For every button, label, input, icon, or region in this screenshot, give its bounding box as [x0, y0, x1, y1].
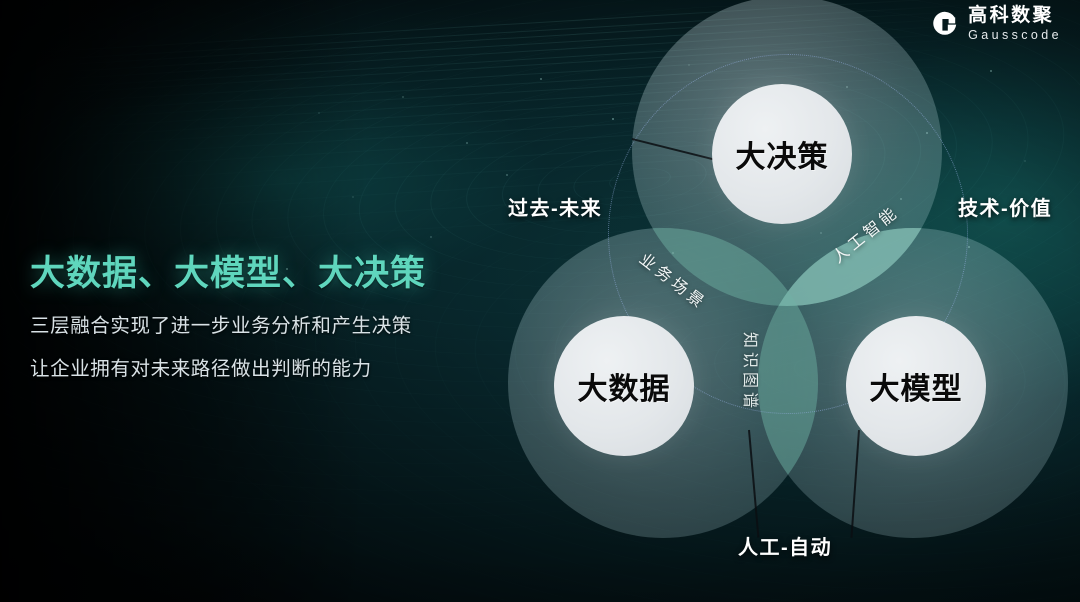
- venn-disc-label-bigdata: 大数据: [578, 364, 671, 408]
- venn-disc-label-bigmodel: 大模型: [870, 364, 963, 408]
- left-text-block: 大数据、大模型、大决策 三层融合实现了进一步业务分析和产生决策 让企业拥有对未来…: [30, 253, 490, 379]
- venn-disc-bigmodel: 大模型: [846, 316, 986, 456]
- page-title: 大数据、大模型、大决策: [30, 253, 490, 294]
- axis-label-past-future: 过去-未来: [508, 192, 602, 221]
- subtitle-line-2: 让企业拥有对未来路径做出判断的能力: [30, 359, 490, 379]
- axis-label-tech-value: 技术-价值: [958, 192, 1052, 221]
- venn-disc-bigdata: 大数据: [554, 316, 694, 456]
- venn-disc-label-decision: 大决策: [736, 132, 829, 176]
- subtitle-line-1: 三层融合实现了进一步业务分析和产生决策: [30, 316, 490, 336]
- slide-canvas: 高科数聚 Gausscode 大数据、大模型、大决策 三层融合实现了进一步业务分…: [0, 0, 1080, 602]
- venn-diagram: 业务场景 人工智能 知识图谱 大决策 大数据 大模型: [490, 0, 1080, 602]
- overlap-label-knowledge-graph: 知识图谱: [740, 332, 764, 412]
- venn-disc-decision: 大决策: [712, 84, 852, 224]
- axis-label-manual-auto: 人工-自动: [738, 531, 832, 560]
